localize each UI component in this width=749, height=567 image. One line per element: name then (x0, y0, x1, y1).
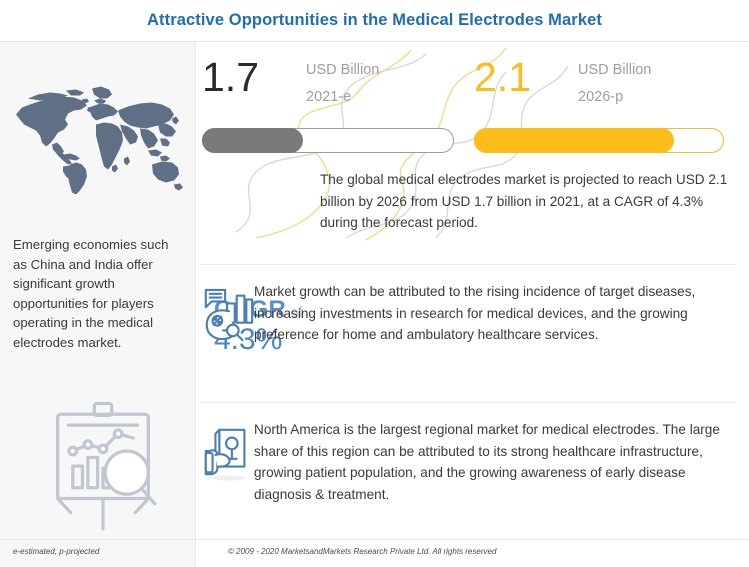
footer-bar: e-estimated, p-projected © 2009 - 2020 M… (0, 539, 749, 567)
progress-bar-projected (474, 128, 724, 153)
statement-text: North America is the largest regional ma… (254, 419, 732, 505)
right-panel: 1.7 USD Billion 2021-e 2.1 USD Billion 2… (196, 42, 749, 539)
presentation-chart-magnifier-icon (38, 397, 168, 532)
section-divider (200, 402, 736, 403)
hand-holding-money-icon (200, 422, 256, 484)
chart-report-magnifier-icon (200, 284, 256, 346)
footer-legend: e-estimated, p-projected (13, 547, 99, 556)
progress-bar-current (202, 128, 454, 153)
statement-text: Market growth can be attributed to the r… (254, 281, 732, 346)
metric-unit: USD Billion (306, 62, 379, 78)
infographic-page: Attractive Opportunities in the Medical … (0, 0, 749, 567)
progress-bar-fill (202, 128, 303, 153)
section-divider (200, 264, 736, 265)
world-map-icon (8, 52, 188, 227)
metric-year: 2021-e (306, 89, 351, 105)
metric-unit: USD Billion (578, 62, 651, 78)
metric-year: 2026-p (578, 89, 623, 105)
footer-copyright: © 2009 - 2020 MarketsandMarkets Research… (228, 547, 496, 556)
page-title: Attractive Opportunities in the Medical … (147, 11, 602, 30)
title-bar: Attractive Opportunities in the Medical … (0, 0, 749, 41)
left-panel: Emerging economies such as China and Ind… (0, 42, 196, 539)
statement-text: The global medical electrodes market is … (320, 169, 732, 234)
metric-current-market-size: 1.7 USD Billion 2021-e (202, 54, 464, 120)
metric-value: 1.7 (202, 52, 259, 102)
metric-value: 2.1 (474, 52, 531, 102)
left-panel-description: Emerging economies such as China and Ind… (13, 235, 185, 352)
progress-bar-fill (474, 128, 674, 153)
metric-projected-market-size: 2.1 USD Billion 2026-p (474, 54, 736, 120)
apac-label: APAC (0, 393, 1, 437)
